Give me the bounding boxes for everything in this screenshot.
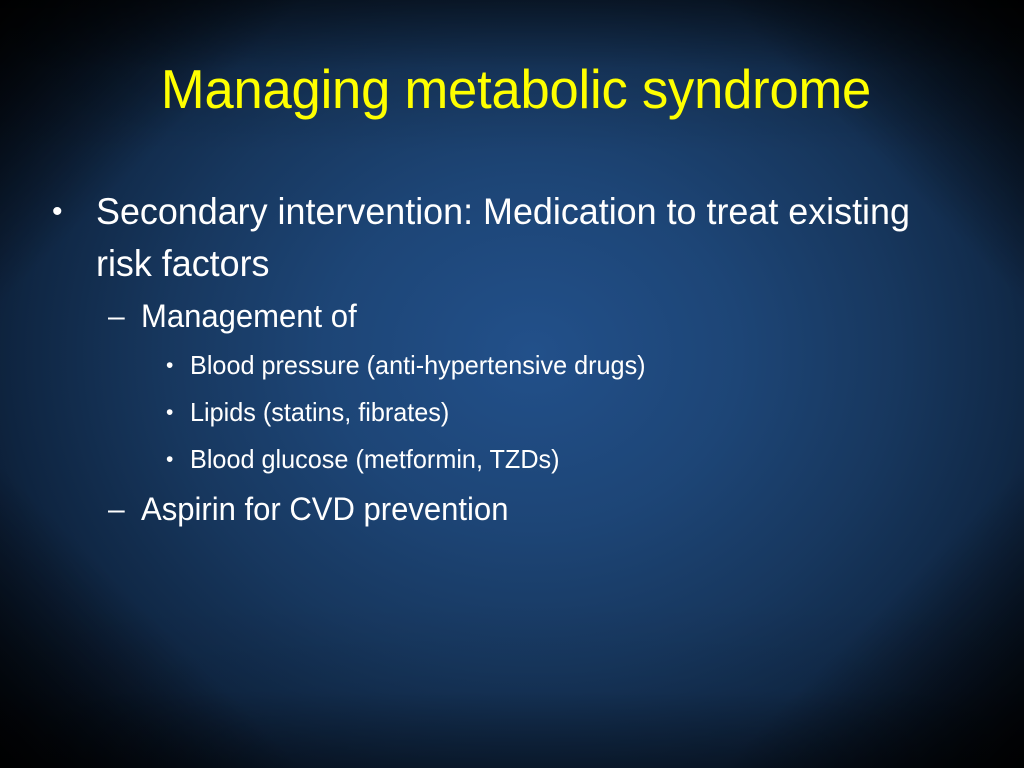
slide-title-placeholder: Managing metabolic syndrome [64,58,968,120]
bullet-item-level3: • Lipids (statins, fibrates) [52,389,972,436]
bullet-text: Lipids (statins, fibrates) [190,389,949,436]
bullet-item-level1: • Secondary intervention: Medication to … [52,186,972,290]
bullet-dash-icon: – [108,485,141,534]
bullet-dot-small-icon: • [166,342,190,389]
bullet-text: Secondary intervention: Medication to tr… [96,186,946,290]
bullet-item-level2: – Management of [52,292,972,341]
bullet-item-level3: • Blood pressure (anti-hypertensive drug… [52,342,972,389]
bullet-text: Blood glucose (metformin, TZDs) [190,436,949,483]
bullet-dash-icon: – [108,292,141,341]
bullet-dot-icon: • [52,186,96,238]
slide-title: Managing metabolic syndrome [84,58,947,120]
slide-body-placeholder: • Secondary intervention: Medication to … [52,186,972,535]
bullet-text: Management of [141,292,947,341]
bullet-text: Aspirin for CVD prevention [141,485,947,534]
bullet-dot-small-icon: • [166,436,190,483]
bullet-item-level2: – Aspirin for CVD prevention [52,485,972,534]
bullet-dot-small-icon: • [166,389,190,436]
bullet-text: Blood pressure (anti-hypertensive drugs) [190,342,949,389]
bullet-item-level3: • Blood glucose (metformin, TZDs) [52,436,972,483]
presentation-slide: Managing metabolic syndrome • Secondary … [0,0,1024,768]
